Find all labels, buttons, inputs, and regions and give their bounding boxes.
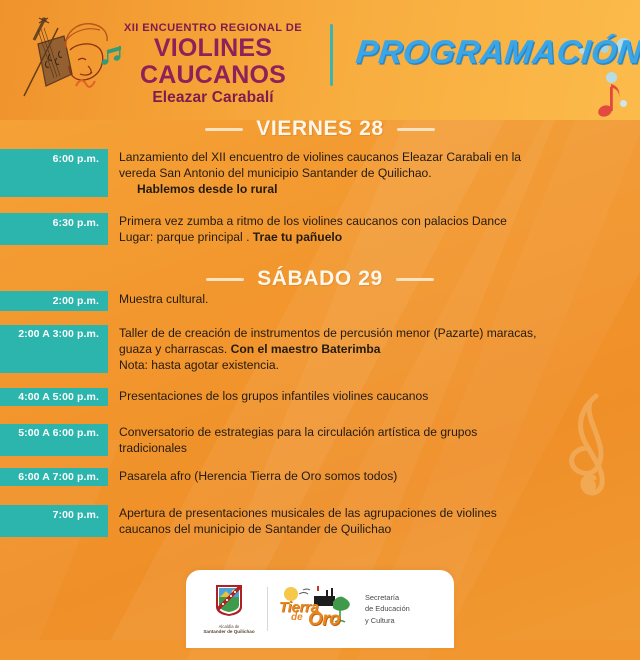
day-label: SÁBADO 29: [257, 267, 383, 291]
event-pretitle: XII ENCUENTRO REGIONAL DE: [104, 22, 322, 34]
desc-prefix: Lugar: parque principal .: [119, 230, 253, 244]
desc-line: tradicionales: [119, 440, 626, 456]
desc-highlight: Hablemos desde lo rural: [119, 181, 626, 197]
event-subtitle: Eleazar Carabalí: [104, 89, 322, 107]
time-badge: 2:00 p.m.: [0, 291, 108, 311]
day-heading-sabado: SÁBADO 29: [0, 267, 640, 291]
desc-line: Muestra cultural.: [119, 291, 626, 307]
time-badge: 5:00 A 6:00 p.m.: [0, 424, 108, 456]
event-description: Muestra cultural.: [108, 291, 640, 311]
schedule-row: 4:00 A 5:00 p.m. Presentaciones de los g…: [0, 388, 640, 406]
event-description: Taller de de creación de instrumentos de…: [108, 325, 640, 373]
event-description: Apertura de presentaciones musicales de …: [108, 505, 640, 537]
desc-bold: Con el maestro Baterimba: [231, 342, 381, 356]
desc-line: caucanos del municipio de Santander de Q…: [119, 521, 626, 537]
time-badge: 6:00 p.m.: [0, 149, 108, 197]
time-badge: 6:00 A 7:00 p.m.: [0, 468, 108, 486]
time-line: 5:00 A: [18, 427, 49, 439]
desc-line: Pasarela afro (Herencia Tierra de Oro so…: [119, 468, 626, 484]
secretaria-line1: Secretaría: [365, 592, 410, 603]
footer-divider: [267, 587, 268, 631]
time-badge: 4:00 A 5:00 p.m.: [0, 388, 108, 406]
time-line: 6:00 A: [18, 471, 49, 483]
time-badge: 2:00 A 3:00 p.m.: [0, 325, 108, 373]
day-label: VIERNES 28: [256, 117, 383, 141]
secretaria-line2: de Educación: [365, 603, 410, 614]
day-rule-left: [205, 128, 243, 131]
schedule-row: 2:00 p.m. Muestra cultural.: [0, 291, 640, 311]
event-description: Conversatorio de estrategias para la cir…: [108, 424, 640, 456]
event-description: Lanzamiento del XII encuentro de violine…: [108, 149, 640, 197]
alcaldia-line2: Santander de Quilichao: [200, 629, 258, 635]
desc-bold: Trae tu pañuelo: [253, 230, 342, 244]
time-badge: 7:00 p.m.: [0, 505, 108, 537]
schedule-row: 2:00 A 3:00 p.m. Taller de de creación d…: [0, 325, 640, 373]
day-rule-right: [397, 128, 435, 131]
event-title-line1: VIOLINES: [104, 36, 322, 60]
time-line: 2:00 A: [18, 328, 49, 340]
tierra-word-3: Oro: [308, 609, 340, 631]
schedule-row: 6:00 A 7:00 p.m. Pasarela afro (Herencia…: [0, 468, 640, 486]
time-line: 6:30 p.m.: [53, 217, 99, 229]
time-line: 6:00 p.m.: [53, 427, 99, 439]
time-line: 2:00 p.m.: [53, 295, 99, 307]
event-title-line2: CAUCANOS: [104, 63, 322, 87]
time-line: 5:00 p.m.: [53, 391, 99, 403]
header-divider: [330, 24, 333, 86]
schedule-row: 5:00 A 6:00 p.m. Conversatorio de estrat…: [0, 424, 640, 456]
tierra-word-2: de: [291, 612, 303, 623]
schedule-row: 6:00 p.m. Lanzamiento del XII encuentro …: [0, 149, 640, 197]
alcaldia-logo: Alcaldía de Santander de Quilichao: [200, 583, 258, 636]
desc-line: Primera vez zumba a ritmo de los violine…: [119, 213, 626, 229]
event-description: Primera vez zumba a ritmo de los violine…: [108, 213, 640, 245]
time-line: 7:00 p.m.: [53, 509, 99, 521]
desc-line: Presentaciones de los grupos infantiles …: [119, 388, 626, 404]
time-badge: 6:30 p.m.: [0, 213, 108, 245]
desc-line: Conversatorio de estrategias para la cir…: [119, 424, 626, 440]
schedule-row: 7:00 p.m. Apertura de presentaciones mus…: [0, 505, 640, 537]
page-title: PROGRAMACIÓN: [354, 33, 640, 71]
desc-line: vereda San Antonio del municipio Santand…: [119, 165, 626, 181]
desc-line: Lanzamiento del XII encuentro de violine…: [119, 149, 626, 165]
event-description: Pasarela afro (Herencia Tierra de Oro so…: [108, 468, 640, 486]
desc-prefix: guaza y charrascas.: [119, 342, 231, 356]
time-line: 4:00 A: [18, 391, 49, 403]
alcaldia-caption: Alcaldía de Santander de Quilichao: [200, 624, 258, 636]
desc-line: Taller de de creación de instrumentos de…: [119, 325, 626, 341]
day-rule-right: [396, 278, 434, 281]
desc-line: guaza y charrascas. Con el maestro Bater…: [119, 341, 626, 357]
schedule-row: 6:30 p.m. Primera vez zumba a ritmo de l…: [0, 213, 640, 245]
event-title: XII ENCUENTRO REGIONAL DE VIOLINES CAUCA…: [104, 22, 322, 107]
secretaria-caption: Secretaría de Educación y Cultura: [365, 592, 410, 625]
footer-logos-card: Alcaldía de Santander de Quilichao Tierr…: [186, 570, 454, 648]
secretaria-line3: y Cultura: [365, 615, 410, 626]
coat-of-arms-icon: [214, 583, 244, 617]
time-line: 7:00 p.m.: [53, 471, 99, 483]
poster-header: XII ENCUENTRO REGIONAL DE VIOLINES CAUCA…: [0, 0, 640, 112]
time-line: 3:00 p.m.: [53, 328, 99, 340]
day-heading-viernes: VIERNES 28: [0, 117, 640, 141]
tierra-de-oro-logo: Tierra de Oro: [277, 582, 355, 636]
desc-line: Lugar: parque principal . Trae tu pañuel…: [119, 229, 626, 245]
day-rule-left: [206, 278, 244, 281]
event-description: Presentaciones de los grupos infantiles …: [108, 388, 640, 406]
desc-line: Apertura de presentaciones musicales de …: [119, 505, 626, 521]
desc-note: Nota: hasta agotar existencia.: [119, 357, 626, 373]
time-line: 6:00 p.m.: [53, 153, 99, 165]
